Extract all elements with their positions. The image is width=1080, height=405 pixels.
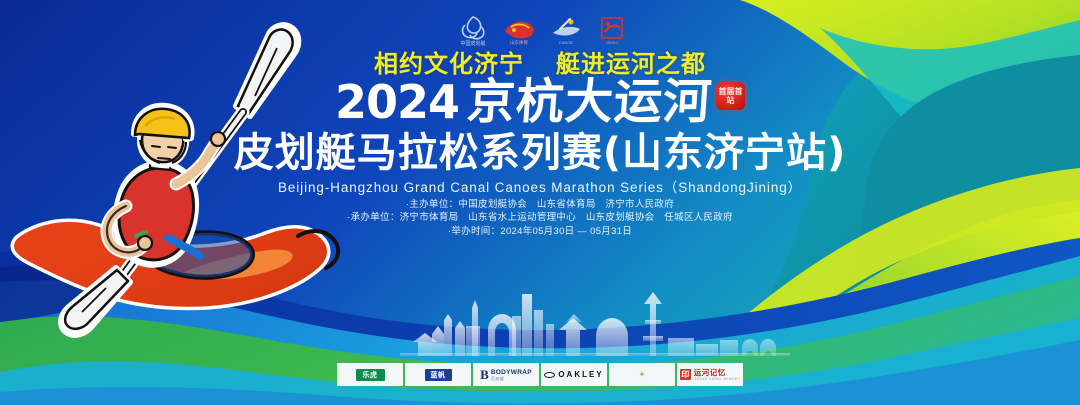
- sponsor-bodywrap: B BODYWRAP 百迪威: [473, 363, 539, 386]
- sponsor-bar: 乐虎 蓝帆 B BODYWRAP 百迪威 OAKLEY ✦ 印 运河记忆 GRA…: [337, 363, 743, 386]
- sponsor-oakley: OAKLEY: [541, 363, 607, 386]
- sponsor-blue-brand: 蓝帆: [405, 363, 471, 386]
- sponsor-bodywrap-mark: BODYWRAP: [491, 369, 532, 376]
- sponsor-light-brand: ✦: [609, 363, 675, 386]
- sponsor-oakley-mark: OAKLEY: [558, 370, 603, 379]
- bodywrap-b-icon: B: [480, 369, 489, 380]
- sponsor-green-brand-mark: 乐虎: [356, 369, 385, 381]
- sponsor-blue-brand-mark: 蓝帆: [425, 369, 452, 381]
- canal-memory-seal-icon: 印: [680, 369, 691, 380]
- event-poster: 中国皮划艇 山东体育 CANOE: [0, 0, 1080, 405]
- oakley-ellipse-icon: [544, 372, 555, 378]
- sponsor-bodywrap-sub: 百迪威: [491, 376, 505, 381]
- background-artwork: [0, 0, 1080, 405]
- sponsor-canal-memory: 印 运河记忆 GRAND CANAL MEMORY: [677, 363, 743, 386]
- sponsor-green-brand: 乐虎: [337, 363, 403, 386]
- sponsor-canal-memory-mark: 运河记忆: [694, 369, 726, 377]
- sponsor-canal-memory-sub: GRAND CANAL MEMORY: [694, 377, 741, 381]
- sponsor-light-brand-mark: ✦: [639, 370, 646, 379]
